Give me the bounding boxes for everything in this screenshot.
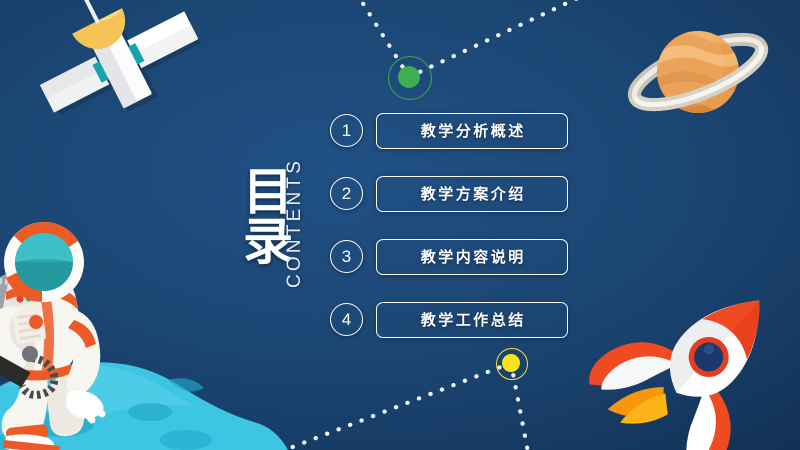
menu-item-3[interactable]: 教学内容说明 [376,239,568,275]
network-node-green [398,66,420,88]
menu-number-4: 4 [330,303,363,336]
menu-label-4: 教学工作总结 [418,309,526,330]
menu-number-3: 3 [330,240,363,273]
list-item[interactable]: 3 教学内容说明 [330,234,580,279]
list-item[interactable]: 1 教学分析概述 [330,108,580,153]
menu-label-1: 教学分析概述 [418,120,526,141]
list-item[interactable]: 4 教学工作总结 [330,297,580,342]
menu-number-1: 1 [330,114,363,147]
page-title-en: CONTENTS [284,142,306,288]
contents-menu: 1 教学分析概述 2 教学方案介绍 3 教学内容说明 4 教学工作总结 [330,108,580,360]
menu-item-2[interactable]: 教学方案介绍 [376,176,568,212]
menu-label-2: 教学方案介绍 [418,183,526,204]
menu-item-1[interactable]: 教学分析概述 [376,113,568,149]
menu-item-4[interactable]: 教学工作总结 [376,302,568,338]
list-item[interactable]: 2 教学方案介绍 [330,171,580,216]
menu-number-2: 2 [330,177,363,210]
slide-title-block: 目录 CONTENTS [222,136,330,296]
presentation-slide: 目录 CONTENTS 1 教学分析概述 2 教学方案介绍 3 教学内容说明 4… [0,0,800,450]
menu-label-3: 教学内容说明 [418,246,526,267]
page-title-cn: 目录 [226,136,288,294]
